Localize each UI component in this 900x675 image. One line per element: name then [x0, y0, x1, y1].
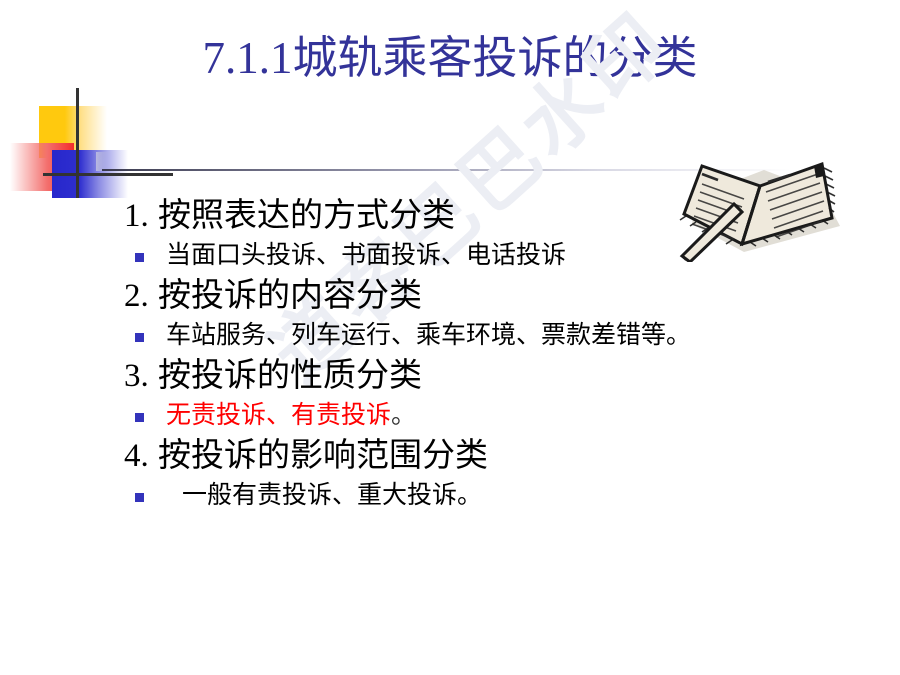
sub-text-3-punctuation: 。 [391, 402, 416, 429]
bullet-square-icon [135, 493, 144, 502]
red-square-decoration [10, 143, 74, 191]
bullet-square-icon [135, 333, 144, 342]
item-number-1: 1. [124, 194, 158, 238]
list-item-sub-4: 一般有责投诉、重大投诉。 [124, 478, 884, 514]
list-item-heading-4: 4.按投诉的影响范围分类 [124, 434, 884, 478]
item-text-1: 按照表达的方式分类 [158, 198, 455, 234]
item-number-2: 2. [124, 274, 158, 318]
page-title: 7.1.1城轨乘客投诉的分类 [0, 32, 900, 84]
vertical-rule-decoration [76, 88, 79, 198]
bullet-square-icon [135, 253, 144, 262]
item-text-4: 按投诉的影响范围分类 [158, 438, 488, 474]
item-text-2: 按投诉的内容分类 [158, 278, 422, 314]
item-number-4: 4. [124, 434, 158, 478]
item-number-3: 3. [124, 354, 158, 398]
list-item-sub-1: 当面口头投诉、书面投诉、电话投诉 [124, 238, 884, 274]
list-item-heading-3: 3.按投诉的性质分类 [124, 354, 884, 398]
blue-square-decoration [52, 150, 128, 198]
list-item-heading-2: 2.按投诉的内容分类 [124, 274, 884, 318]
yellow-square-decoration [39, 106, 107, 158]
list-item-sub-3: 无责投诉、有责投诉。 [124, 398, 884, 434]
sub-text-3: 无责投诉、有责投诉 [166, 402, 391, 429]
bullet-square-icon [135, 413, 144, 422]
content-list: 1.按照表达的方式分类 当面口头投诉、书面投诉、电话投诉 2.按投诉的内容分类 … [124, 194, 884, 514]
sub-text-2: 车站服务、列车运行、乘车环境、票款差错等。 [166, 322, 691, 349]
item-text-3: 按投诉的性质分类 [158, 358, 422, 394]
list-item-sub-2: 车站服务、列车运行、乘车环境、票款差错等。 [124, 318, 884, 354]
sub-text-4: 一般有责投诉、重大投诉。 [182, 482, 482, 509]
sub-text-1: 当面口头投诉、书面投诉、电话投诉 [166, 242, 566, 269]
slide-canvas: 7.1.1城轨乘客投诉的分类 道客巴巴水印 [0, 0, 900, 675]
horizontal-rule-decoration [43, 173, 173, 176]
list-item-heading-1: 1.按照表达的方式分类 [124, 194, 884, 238]
